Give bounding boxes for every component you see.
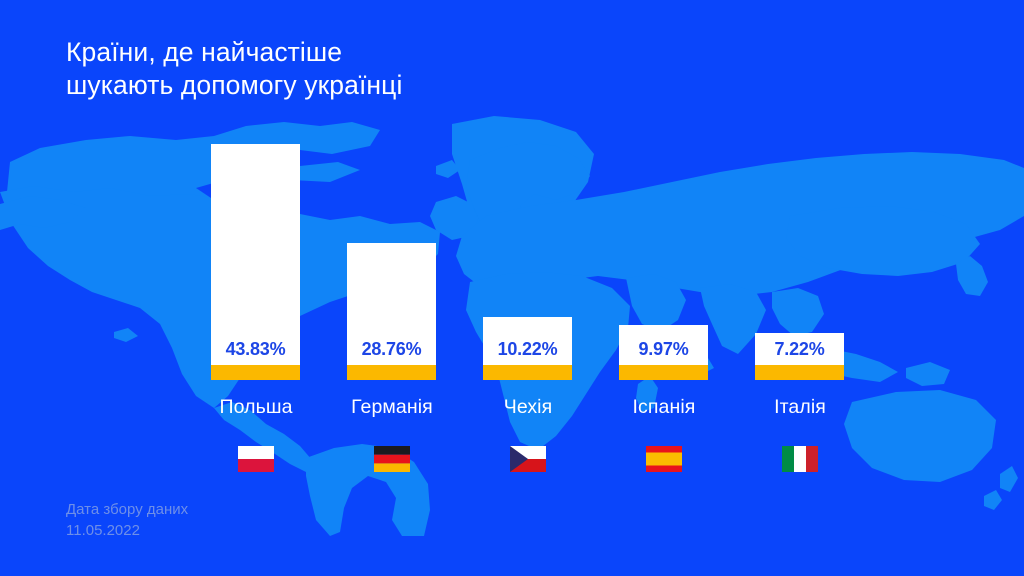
bar-group-germany: 28.76% Германія [324, 0, 460, 576]
bar-label-poland: Польша [188, 396, 324, 419]
bar-chart: 43.83% Польша 28.76% Германія [0, 0, 1024, 576]
bar-germany[interactable]: 28.76% [347, 243, 436, 380]
flag-spain [646, 446, 682, 472]
flag-czechia [510, 446, 546, 472]
bar-spain[interactable]: 9.97% [619, 325, 708, 380]
bar-label-germany: Германія [324, 396, 460, 419]
bar-group-spain: 9.97% Іспанія [596, 0, 732, 576]
bar-label-spain: Іспанія [596, 396, 732, 419]
flag-poland [238, 446, 274, 472]
bar-value-czechia: 10.22% [498, 339, 558, 360]
bar-czechia[interactable]: 10.22% [483, 317, 572, 380]
bar-value-spain: 9.97% [638, 339, 688, 360]
infographic-slide: Країни, де найчастіше шукають допомогу у… [0, 0, 1024, 576]
bar-group-poland: 43.83% Польша [188, 0, 324, 576]
bar-value-germany: 28.76% [362, 339, 422, 360]
bar-base-italy [755, 365, 844, 380]
bar-label-italy: Італія [732, 396, 868, 419]
bar-value-poland: 43.83% [226, 339, 286, 360]
bar-label-czechia: Чехія [460, 396, 596, 419]
flag-germany [374, 446, 410, 472]
bar-group-italy: 7.22% Італія [732, 0, 868, 576]
bar-group-czechia: 10.22% Чехія [460, 0, 596, 576]
bar-value-italy: 7.22% [774, 339, 824, 360]
bar-base-spain [619, 365, 708, 380]
data-collection-date: Дата збору даних 11.05.2022 [66, 499, 188, 541]
bar-base-germany [347, 365, 436, 380]
bar-base-czechia [483, 365, 572, 380]
bar-base-poland [211, 365, 300, 380]
bar-poland[interactable]: 43.83% [211, 144, 300, 380]
flag-italy [782, 446, 818, 472]
bar-italy[interactable]: 7.22% [755, 333, 844, 380]
